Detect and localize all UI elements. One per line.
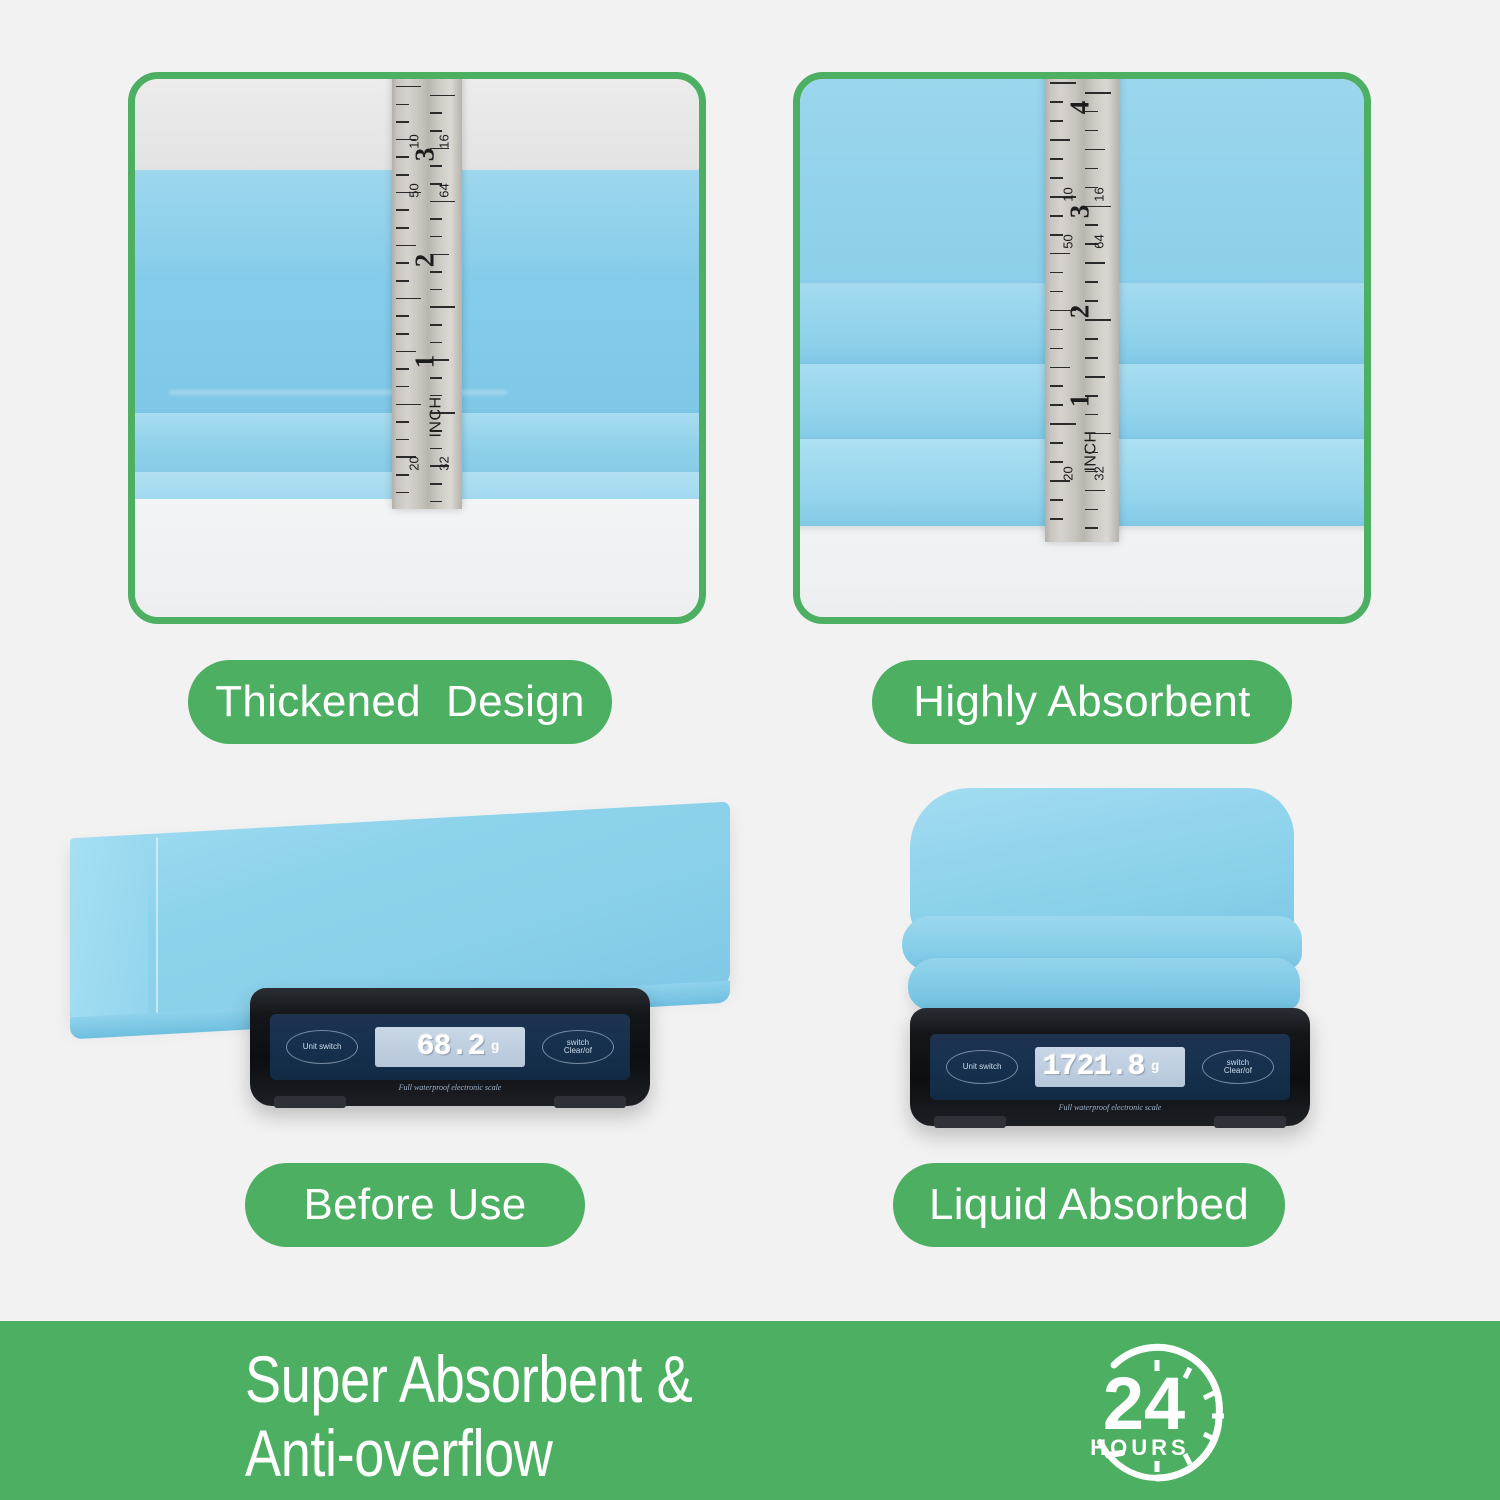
scale-faceplate: Unit switch 68.2 g switch Clear/of — [270, 1014, 630, 1080]
scale-lcd-display: 68.2 g — [375, 1027, 526, 1068]
digital-scale-after: Unit switch 1721.8 g switch Clear/of Ful… — [910, 1008, 1310, 1126]
scale-reading-value: 1721.8 — [1043, 1050, 1145, 1084]
bottom-banner: Super Absorbent & Anti-overflow — [0, 1321, 1500, 1500]
scale-foot-left — [934, 1116, 1006, 1128]
ruler-metric-64: 64 — [436, 183, 451, 197]
ruler-inch-2: 2 — [410, 253, 441, 267]
clear-switch-button[interactable]: switch Clear/of — [1202, 1050, 1274, 1084]
clear-switch-label-bottom: Clear/of — [564, 1047, 592, 1055]
banner-headline-line2: Anti-overflow — [245, 1417, 692, 1491]
ruler-metric-64: 64 — [1092, 234, 1107, 248]
clock-number-24: 24 — [1103, 1362, 1185, 1445]
scale-foot-left — [274, 1096, 346, 1108]
unit-switch-label: Unit switch — [303, 1043, 342, 1051]
scale-lcd-display: 1721.8 g — [1035, 1047, 1186, 1088]
scale-reading-unit: g — [1151, 1059, 1159, 1075]
unit-switch-button[interactable]: Unit switch — [946, 1050, 1018, 1084]
photo-highly-absorbent: 4 3 2 1 INCH 10 50 20 16 64 32 — [800, 79, 1364, 617]
scale-caption: Full waterproof electronic scale — [250, 1083, 650, 1092]
ruler-inch-1: 1 — [410, 355, 441, 369]
ruler-metric-10: 10 — [407, 135, 422, 149]
badge-highly-absorbent: Highly Absorbent — [872, 660, 1292, 744]
scale-caption: Full waterproof electronic scale — [910, 1103, 1310, 1112]
steel-ruler: 4 3 2 1 INCH 10 50 20 16 64 32 — [1045, 79, 1118, 542]
ruler-metric-50: 50 — [407, 183, 422, 197]
ruler-metric-32: 32 — [1092, 466, 1107, 480]
infographic-page: 3 2 1 INCH 10 50 20 16 64 32 — [0, 0, 1500, 1500]
unit-switch-label: Unit switch — [963, 1063, 1002, 1071]
scale-foot-right — [1214, 1116, 1286, 1128]
clock-24-hours-icon: 24 HOURS — [1078, 1337, 1236, 1495]
ruler-metric-10: 10 — [1061, 187, 1076, 201]
steel-ruler: 3 2 1 INCH 10 50 20 16 64 32 — [392, 79, 463, 509]
ruler-inch-3: 3 — [410, 148, 441, 162]
photo-panel-thickened-design: 3 2 1 INCH 10 50 20 16 64 32 — [128, 72, 706, 624]
underpad-saturated — [902, 788, 1302, 1008]
clock-label-hours: HOURS — [1090, 1435, 1189, 1460]
ruler-inch-1: 1 — [1064, 394, 1095, 408]
photo-table-surface — [135, 499, 699, 617]
scale-foot-right — [554, 1096, 626, 1108]
ruler-metric-32: 32 — [436, 457, 451, 471]
ruler-metric-16: 16 — [436, 135, 451, 149]
badge-liquid-absorbed: Liquid Absorbed — [893, 1163, 1285, 1247]
clear-switch-button[interactable]: switch Clear/of — [542, 1030, 614, 1064]
scale-reading-unit: g — [491, 1039, 499, 1055]
photo-thickened-design: 3 2 1 INCH 10 50 20 16 64 32 — [135, 79, 699, 617]
ruler-metric-20: 20 — [1061, 466, 1076, 480]
banner-headline: Super Absorbent & Anti-overflow — [245, 1343, 692, 1491]
badge-thickened-design: Thickened Design — [188, 660, 612, 744]
digital-scale-before: Unit switch 68.2 g switch Clear/of Full … — [250, 988, 650, 1106]
banner-headline-line1: Super Absorbent & — [245, 1342, 692, 1416]
ruler-metric-50: 50 — [1061, 234, 1076, 248]
ruler-metric-16: 16 — [1092, 187, 1107, 201]
underpad-roll-bottom — [908, 958, 1300, 1010]
photo-panel-highly-absorbent: 4 3 2 1 INCH 10 50 20 16 64 32 — [793, 72, 1371, 624]
underpad-fold-line — [156, 838, 158, 1016]
ruler-inch-3: 3 — [1064, 205, 1095, 219]
ruler-inch-label: INCH — [428, 396, 446, 437]
ruler-inch-4: 4 — [1064, 101, 1095, 115]
product-photo-before-use: Unit switch 68.2 g switch Clear/of Full … — [60, 800, 760, 1140]
badge-before-use: Before Use — [245, 1163, 585, 1247]
unit-switch-button[interactable]: Unit switch — [286, 1030, 358, 1064]
underpad-fold — [70, 834, 148, 1023]
ruler-metric-20: 20 — [407, 457, 422, 471]
clear-switch-label-bottom: Clear/of — [1224, 1067, 1252, 1075]
product-photo-liquid-absorbed: Unit switch 1721.8 g switch Clear/of Ful… — [870, 780, 1350, 1140]
scale-faceplate: Unit switch 1721.8 g switch Clear/of — [930, 1034, 1290, 1100]
scale-reading-value: 68.2 — [417, 1030, 485, 1064]
ruler-inch-2: 2 — [1064, 304, 1095, 318]
